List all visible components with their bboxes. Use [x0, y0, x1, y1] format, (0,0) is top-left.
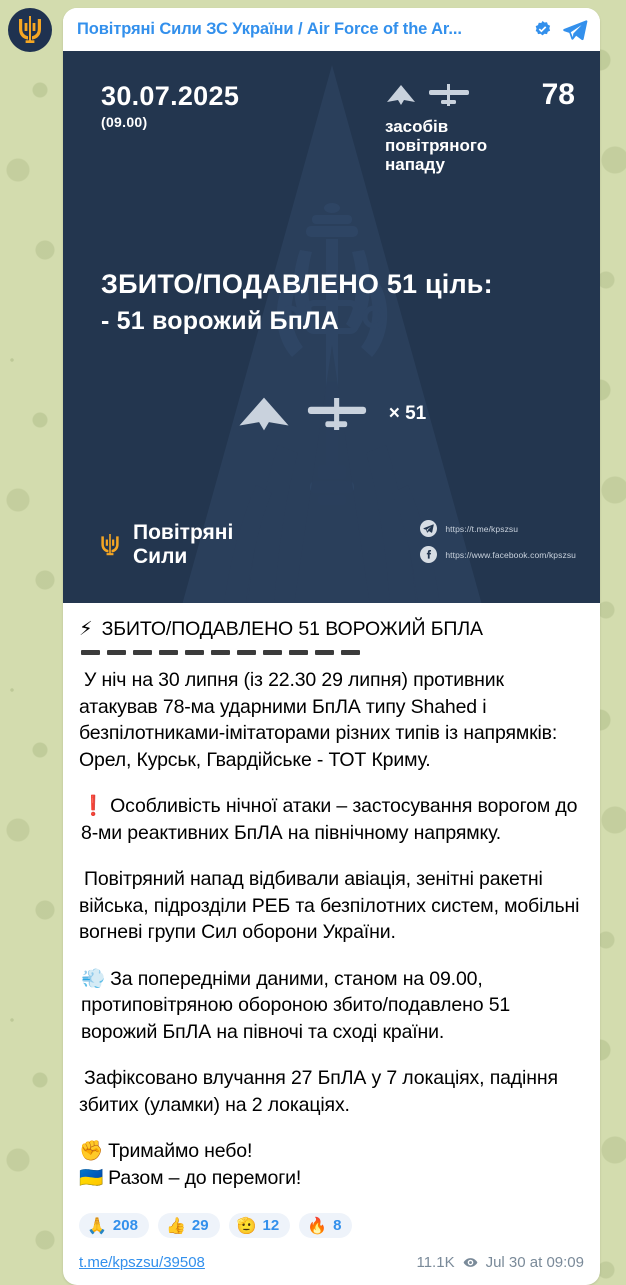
poster-link-telegram: https://t.me/kpszsu — [420, 520, 576, 537]
dash-segment — [133, 650, 152, 655]
signoff-text: Тримаймо небо! — [108, 1140, 252, 1162]
post-image[interactable]: 30.07.2025 (09.00) 78 засобів повітряног… — [63, 51, 600, 603]
telegram-plane-icon[interactable] — [562, 17, 588, 43]
dash-segment — [81, 650, 100, 655]
wind-icon: 💨 — [81, 967, 105, 990]
shahed-drone-icon — [385, 83, 417, 107]
poster-link-telegram-url: https://t.me/kpszsu — [445, 524, 518, 534]
dash-segment — [185, 650, 204, 655]
paragraph-text: Особливість нічної атаки – застосування … — [81, 795, 577, 844]
uav-plane-icon — [427, 83, 471, 107]
poster-link-facebook-url: https://www.facebook.com/kpszsu — [445, 550, 576, 560]
channel-name[interactable]: Повітряні Сили ЗС України / Air Force of… — [77, 20, 525, 39]
post-title: ЗБИТО/ПОДАВЛЕНО 51 ВОРОЖИЙ БПЛА — [102, 618, 483, 641]
post-body: ⚡ ЗБИТО/ПОДАВЛЕНО 51 ВОРОЖИЙ БПЛА У ніч … — [63, 603, 600, 1207]
poster-social-links: https://t.me/kpszsu https://www.facebook… — [420, 520, 576, 563]
facebook-icon — [420, 546, 437, 563]
poster-count-number: 78 — [542, 80, 575, 110]
dashed-divider — [81, 650, 584, 655]
channel-header[interactable]: Повітряні Сили ЗС України / Air Force of… — [63, 8, 600, 51]
poster-brand-line1: Повітряні — [133, 521, 233, 545]
post-permalink[interactable]: t.me/kpszsu/39508 — [79, 1254, 205, 1271]
dash-segment — [237, 650, 256, 655]
poster-headline-block: ЗБИТО/ПОДАВЛЕНО 51 ціль: - 51 ворожий Бп… — [101, 269, 493, 336]
paragraph-text: Зафіксовано влучання 27 БпЛА у 7 локація… — [79, 1067, 558, 1116]
telegram-icon — [420, 520, 437, 537]
poster-count-block: 78 засобів повітряного нападу — [385, 79, 575, 174]
channel-avatar[interactable] — [8, 8, 52, 52]
salute-icon: 🫡 — [237, 1218, 257, 1234]
reaction-count: 12 — [262, 1217, 279, 1234]
poster-time: (09.00) — [101, 114, 239, 130]
poster-brand-line2: Сили — [133, 545, 233, 569]
poster-count-label-line1: засобів — [385, 117, 575, 136]
reaction-count: 208 — [113, 1217, 138, 1234]
signoff-text: Разом – до перемоги! — [108, 1167, 301, 1189]
reaction-count: 29 — [192, 1217, 209, 1234]
view-count: 11.1K — [416, 1254, 454, 1271]
reaction-thumbs-up[interactable]: 👍 29 — [158, 1213, 220, 1238]
post-paragraph: 💨За попередніми даними, станом на 09.00,… — [79, 966, 584, 1046]
telegram-message-card: Повітряні Сили ЗС України / Air Force of… — [63, 8, 600, 1285]
post-title-row: ⚡ ЗБИТО/ПОДАВЛЕНО 51 ВОРОЖИЙ БПЛА — [79, 617, 584, 641]
fist-icon: ✊ — [79, 1139, 103, 1162]
paragraph-text: За попередніми даними, станом на 09.00, … — [81, 968, 510, 1043]
poster-headline: ЗБИТО/ПОДАВЛЕНО 51 ціль: — [101, 269, 493, 300]
trident-emblem-icon — [99, 532, 121, 558]
post-paragraph: У ніч на 30 липня (із 22.30 29 липня) пр… — [79, 667, 584, 773]
post-paragraph: ❗Особливість нічної атаки – застосування… — [79, 793, 584, 846]
poster-count-label-line3: нападу — [385, 155, 575, 174]
paragraph-text: Повітряний напад відбивали авіація, зені… — [79, 868, 579, 943]
fire-icon: 🔥 — [307, 1218, 327, 1234]
verified-badge-icon — [533, 20, 552, 39]
post-signoff: ✊Тримаймо небо! 🇺🇦Разом – до перемоги! — [79, 1138, 584, 1191]
dash-segment — [211, 650, 230, 655]
poster-multiplier: × 51 — [389, 403, 427, 425]
reaction-salute[interactable]: 🫡 12 — [229, 1213, 291, 1238]
poster-brand: Повітряні Сили — [99, 521, 233, 569]
post-paragraph: Зафіксовано влучання 27 БпЛА у 7 локація… — [79, 1065, 584, 1118]
ukraine-flag-icon: 🇺🇦 — [79, 1166, 103, 1189]
poster-tally-block: × 51 — [63, 396, 600, 432]
reactions-bar: 🙏 208 👍 29 🫡 12 🔥 8 — [63, 1207, 600, 1248]
pray-icon: 🙏 — [87, 1218, 107, 1234]
poster-subline: - 51 ворожий БпЛА — [101, 307, 493, 336]
dash-segment — [159, 650, 178, 655]
reaction-fire[interactable]: 🔥 8 — [299, 1213, 352, 1238]
uav-plane-icon — [305, 396, 369, 432]
dash-segment — [341, 650, 360, 655]
eye-icon — [463, 1255, 478, 1270]
dash-segment — [315, 650, 334, 655]
dash-segment — [263, 650, 282, 655]
reaction-pray[interactable]: 🙏 208 — [79, 1213, 149, 1238]
reaction-count: 8 — [333, 1217, 341, 1234]
dash-segment — [107, 650, 126, 655]
exclamation-icon: ❗ — [81, 794, 105, 817]
poster-count-label-line2: повітряного — [385, 136, 575, 155]
thumbs-up-icon: 👍 — [166, 1218, 186, 1234]
paragraph-text: У ніч на 30 липня (із 22.30 29 липня) пр… — [79, 669, 557, 771]
trident-emblem-icon — [16, 15, 44, 45]
post-timestamp: Jul 30 at 09:09 — [486, 1254, 584, 1271]
post-meta: 11.1K Jul 30 at 09:09 — [416, 1254, 584, 1271]
poster-link-facebook: https://www.facebook.com/kpszsu — [420, 546, 576, 563]
poster-date: 30.07.2025 — [101, 83, 239, 110]
post-paragraph: Повітряний напад відбивали авіація, зені… — [79, 866, 584, 946]
poster-date-block: 30.07.2025 (09.00) — [101, 83, 239, 130]
shahed-drone-icon — [237, 396, 291, 432]
lightning-icon: ⚡ — [79, 617, 93, 640]
dash-segment — [289, 650, 308, 655]
post-footer: t.me/kpszsu/39508 11.1K Jul 30 at 09:09 — [63, 1248, 600, 1285]
